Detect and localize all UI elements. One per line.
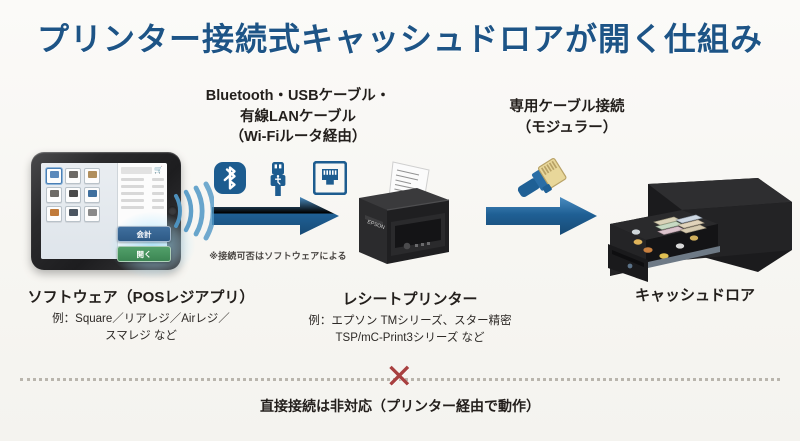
connection-two-label: 専用ケーブル接続 （モジュラー）	[452, 97, 682, 138]
connection-one-note: ※接続可否はソフトウェアによる	[188, 249, 368, 262]
receipt-row	[121, 199, 164, 202]
connection-one-label-line2: 有線LANケーブル	[148, 107, 448, 128]
caption-software-title: ソフトウェア（POSレジアプリ）	[0, 288, 282, 308]
arrow-software-to-printer	[212, 196, 340, 241]
caption-printer-example-line1: 例：エプソン TMシリーズ、スター精密	[285, 313, 535, 330]
caption-cash-drawer-title: キャッシュドロア	[590, 286, 800, 306]
pos-action-buttons: 会計 開く	[117, 226, 171, 266]
connection-one-label-line1: Bluetooth・USBケーブル・	[148, 86, 448, 107]
caption-software: ソフトウェア（POSレジアプリ） 例：Square／リアレジ／Airレジ／ スマ…	[0, 288, 282, 345]
caption-printer: レシートプリンター 例：エプソン TMシリーズ、スター精密 TSP/mC-Pri…	[285, 290, 535, 347]
connection-one-label: Bluetooth・USBケーブル・ 有線LANケーブル （Wi-Fiルータ経由…	[148, 86, 448, 148]
caption-software-example-line1: 例：Square／リアレジ／Airレジ／	[0, 311, 282, 328]
cash-drawer-device	[608, 176, 794, 284]
cart-icon[interactable]: 🛒	[154, 167, 163, 174]
open-drawer-button[interactable]: 開く	[117, 246, 171, 262]
receipt-row	[121, 185, 164, 188]
app-icon-folder[interactable]	[65, 168, 81, 184]
wifi-waves-icon	[172, 180, 214, 247]
app-icon-barcode[interactable]	[46, 206, 62, 222]
x-mark-icon: ✕	[385, 360, 414, 394]
app-icon-star[interactable]	[84, 187, 100, 203]
footer-note: 直接接続は非対応（プリンター経由で動作）	[0, 396, 800, 416]
bluetooth-icon	[213, 161, 247, 200]
connection-one-icon-row	[213, 161, 349, 197]
pos-app-icon-grid	[41, 163, 117, 259]
connection-one-label-line3: （Wi-Fiルータ経由）	[148, 127, 448, 148]
app-icon-cart[interactable]	[65, 187, 81, 203]
receipt-row	[121, 192, 164, 195]
arrow-printer-to-drawer	[486, 196, 598, 241]
lan-port-icon	[313, 161, 347, 200]
caption-cash-drawer: キャッシュドロア	[590, 286, 800, 306]
caption-printer-example-line2: TSP/mC-Print3シリーズ など	[285, 330, 535, 347]
connection-two-label-line1: 専用ケーブル接続	[452, 97, 682, 118]
caption-printer-title: レシートプリンター	[285, 290, 535, 310]
app-icon-register[interactable]	[46, 168, 62, 184]
app-icon-gear[interactable]	[84, 206, 100, 222]
diagram-canvas: プリンター接続式キャッシュドロアが開く仕組み Bluetooth・USBケーブル…	[0, 0, 800, 441]
app-icon-user[interactable]	[65, 206, 81, 222]
caption-software-example-line2: スマレジ など	[0, 328, 282, 345]
connection-two-label-line2: （モジュラー）	[452, 118, 682, 139]
app-icon-settings[interactable]	[46, 187, 62, 203]
receipt-title-bar	[121, 167, 152, 174]
receipt-row	[121, 178, 164, 181]
app-icon-edit[interactable]	[84, 168, 100, 184]
page-title: プリンター接続式キャッシュドロアが開く仕組み	[0, 14, 800, 60]
checkout-button[interactable]: 会計	[117, 226, 171, 242]
receipt-row	[121, 206, 164, 209]
tablet-pos-device: 🛒 会計 開く	[31, 152, 181, 270]
